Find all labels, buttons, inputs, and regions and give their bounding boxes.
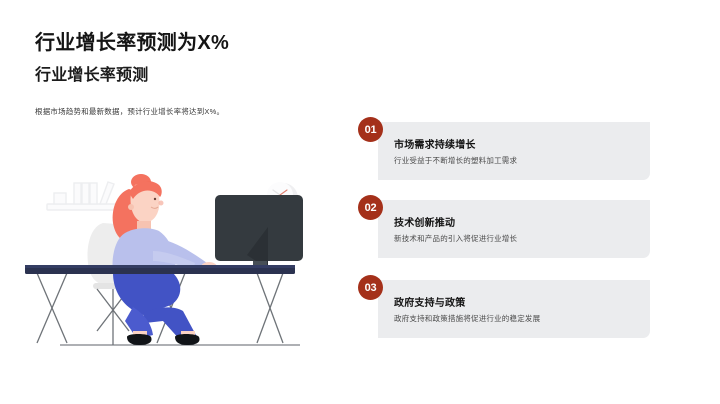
card-title: 技术创新推动	[394, 214, 455, 229]
card-description: 新技术和产品的引入将促进行业增长	[394, 233, 517, 244]
card-description: 政府支持和政策措施将促进行业的稳定发展	[394, 313, 540, 324]
card-title: 市场需求持续增长	[394, 136, 476, 151]
status-badge: 02	[358, 195, 383, 220]
status-badge: 01	[358, 117, 383, 142]
card-background	[378, 280, 650, 338]
points-list: 01 市场需求持续增长 行业受益于不断增长的塑料加工需求 02 技术创新推动 新…	[0, 0, 720, 404]
card-background	[378, 200, 650, 258]
card-background	[378, 122, 650, 180]
list-item[interactable]: 02 技术创新推动 新技术和产品的引入将促进行业增长	[366, 200, 650, 258]
status-badge: 03	[358, 275, 383, 300]
list-item[interactable]: 01 市场需求持续增长 行业受益于不断增长的塑料加工需求	[366, 122, 650, 180]
card-title: 政府支持与政策	[394, 294, 465, 309]
list-item[interactable]: 03 政府支持与政策 政府支持和政策措施将促进行业的稳定发展	[366, 280, 650, 338]
card-description: 行业受益于不断增长的塑料加工需求	[394, 155, 517, 166]
slide-canvas: 行业增长率预测为X% 行业增长率预测 根据市场趋势和最新数据，预计行业增长率将达…	[0, 0, 720, 404]
